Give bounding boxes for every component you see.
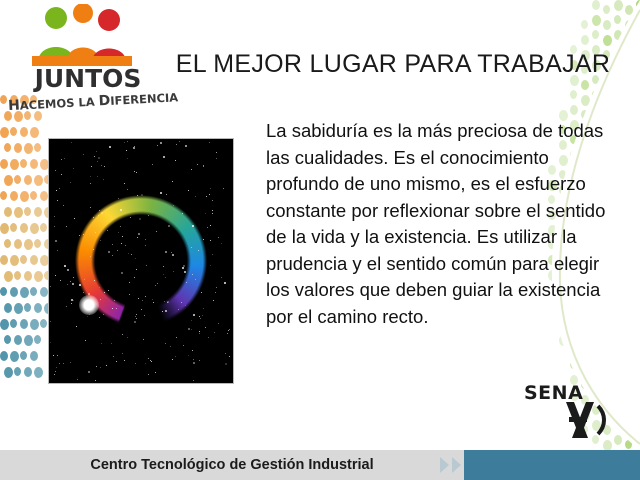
logo-tagline-rest-2: IFERENCIA bbox=[110, 90, 179, 108]
logo-wordmark: JUNTOS bbox=[12, 66, 164, 91]
rainbow-ring-graphic bbox=[71, 191, 211, 331]
sena-emblem-icon bbox=[560, 400, 640, 440]
ring-glow-tip bbox=[79, 295, 99, 315]
footer-text: Centro Tecnológico de Gestión Industrial bbox=[0, 450, 464, 480]
juntos-logo: JUNTOS HACEMOS LA DIFERENCIA bbox=[8, 4, 168, 116]
slide-canvas: JUNTOS HACEMOS LA DIFERENCIA EL MEJOR LU… bbox=[0, 0, 640, 480]
juntos-logo-figures bbox=[8, 4, 168, 66]
footer-bar: Centro Tecnológico de Gestión Industrial bbox=[0, 450, 640, 480]
logo-tagline: HACEMOS LA DIFERENCIA bbox=[8, 90, 169, 114]
logo-tagline-rest-1: ACEMOS LA bbox=[19, 94, 99, 112]
slide-title: EL MEJOR LUGAR PARA TRABAJAR bbox=[168, 50, 618, 79]
slide-image bbox=[48, 138, 234, 384]
footer-accent bbox=[464, 450, 640, 480]
slide-body-text: La sabiduría es la más preciosa de todas… bbox=[266, 118, 618, 330]
sena-logo: SENA bbox=[524, 380, 616, 442]
logo-tagline-cap-h: H bbox=[8, 98, 21, 115]
